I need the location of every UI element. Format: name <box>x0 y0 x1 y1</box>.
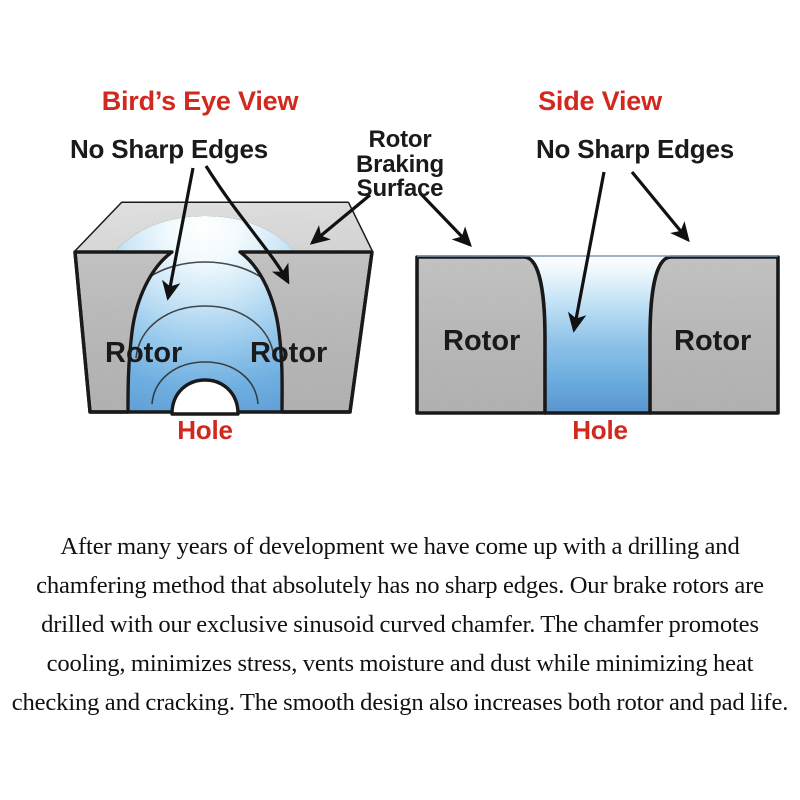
description-paragraph: After many years of development we have … <box>8 527 792 722</box>
hole-label-left: Hole <box>110 417 300 444</box>
side-view-title: Side View <box>400 88 800 116</box>
birds-eye-view-title: Bird’s Eye View <box>0 88 400 116</box>
rotor-label-left-bird: Rotor <box>105 337 182 369</box>
arrow-no-sharp-edges-side-b <box>632 172 688 240</box>
rotor-braking-surface-label: Rotor Braking Surface <box>330 128 470 202</box>
rotor-label-right-side: Rotor <box>674 325 751 357</box>
side-view-diagram: Rotor Rotor <box>417 172 778 413</box>
birds-eye-diagram: Rotor Rotor <box>75 166 372 425</box>
diagram-page: Rotor Rotor Rotor Rotor <box>0 0 800 800</box>
rotor-label-right-bird: Rotor <box>250 337 327 369</box>
rotor-chamfer-diagrams: Rotor Rotor Rotor Rotor <box>0 0 800 480</box>
rotor-label-left-side: Rotor <box>443 325 520 357</box>
hole-label-right: Hole <box>505 417 695 444</box>
no-sharp-edges-label-right: No Sharp Edges <box>480 136 790 163</box>
no-sharp-edges-label-left: No Sharp Edges <box>14 136 324 163</box>
